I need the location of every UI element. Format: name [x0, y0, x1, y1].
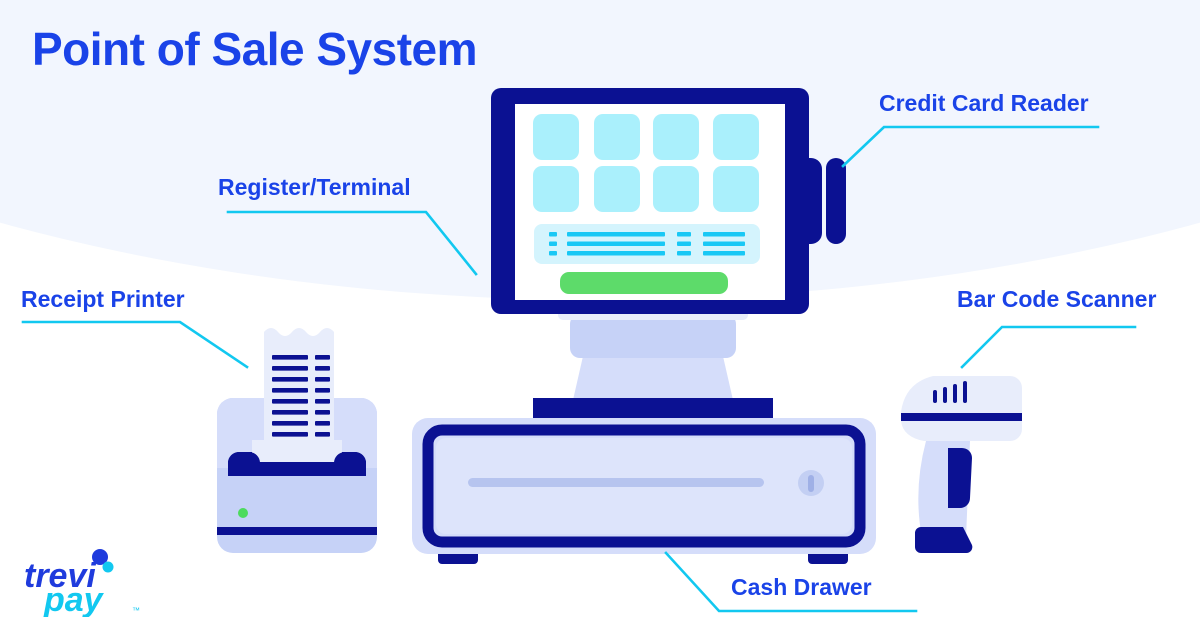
infographic-canvas: Point of Sale System Register/Terminal C… [0, 0, 1200, 630]
terminal-order-lines [549, 232, 745, 256]
terminal-tile[interactable] [653, 166, 699, 212]
callout-label-credit-card: Credit Card Reader [879, 90, 1089, 117]
scanner-stripe [901, 413, 1022, 421]
logo-word-bottom: pay [43, 581, 105, 617]
terminal-tile[interactable] [653, 114, 699, 160]
drawer-handle[interactable] [468, 478, 764, 487]
receipt-printer-illustration [217, 328, 377, 553]
logo-trademark: ™ [132, 606, 140, 615]
receipt-lines [272, 355, 330, 448]
terminal-tile[interactable] [533, 114, 579, 160]
terminal-tile[interactable] [594, 166, 640, 212]
printer-slot-lip [228, 466, 366, 476]
callout-label-cash-drawer: Cash Drawer [731, 574, 872, 601]
terminal-tile[interactable] [713, 166, 759, 212]
printer-slot-gap [252, 440, 342, 462]
terminal-tile[interactable] [713, 114, 759, 160]
callout-label-barcode: Bar Code Scanner [957, 286, 1156, 313]
barcode-scanner-illustration [901, 376, 1022, 553]
logo-dot-accent-icon [103, 562, 114, 573]
printer-stripe [217, 527, 377, 535]
trevipay-logo[interactable]: trevi pay ™ [22, 545, 152, 617]
power-led-icon [238, 508, 248, 518]
callout-label-register: Register/Terminal [218, 174, 411, 201]
card-reader-bar-outer [826, 158, 846, 244]
cash-drawer-top-bar [533, 398, 773, 418]
page-title: Point of Sale System [32, 22, 477, 76]
scanner-trigger[interactable] [948, 448, 972, 508]
terminal-tile[interactable] [533, 166, 579, 212]
scanner-head-lower [901, 421, 1022, 441]
scanner-base [915, 527, 972, 553]
terminal-stand-neck [570, 314, 736, 358]
register-terminal-illustration [491, 88, 846, 418]
receipt-paper [264, 328, 334, 452]
terminal-action-button[interactable] [560, 272, 728, 294]
terminal-tile[interactable] [594, 114, 640, 160]
lock-icon[interactable] [798, 470, 824, 496]
cash-drawer-illustration [412, 398, 876, 564]
callout-label-receipt: Receipt Printer [21, 286, 185, 313]
